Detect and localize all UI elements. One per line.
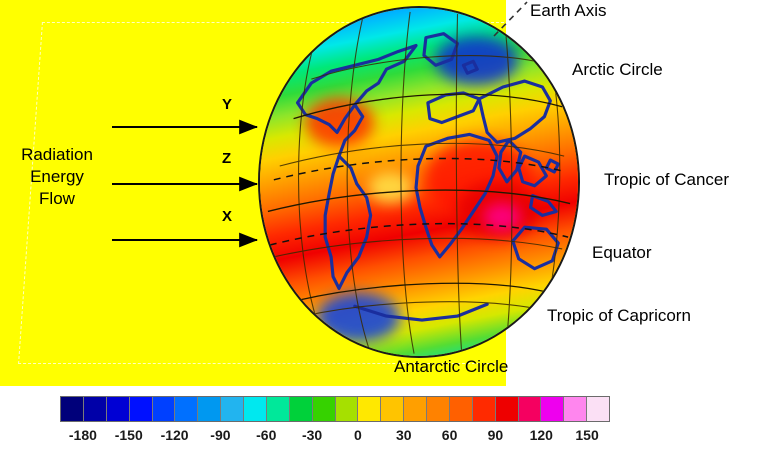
flow-line-1: Radiation [2, 144, 112, 166]
colorbar-tick: -60 [256, 427, 276, 443]
figure-root: Earth Axis Arctic Circle Tropic of Cance… [0, 0, 773, 455]
colorbar-swatch [473, 397, 496, 421]
flow-line-3: Flow [2, 188, 112, 210]
equator-line [268, 190, 570, 211]
colorbar-swatches [60, 396, 610, 422]
colorbar-swatch [541, 397, 564, 421]
label-arctic-circle: Arctic Circle [572, 60, 663, 80]
colorbar-tick: 120 [530, 427, 553, 443]
colorbar-swatch [427, 397, 450, 421]
flow-line-2: Energy [2, 166, 112, 188]
antarctic-circle-line [298, 283, 549, 300]
tropic-of-cancer-line [274, 158, 566, 179]
colorbar-swatch [381, 397, 404, 421]
colorbar-swatch [107, 397, 130, 421]
label-radiation-energy-flow: Radiation Energy Flow [2, 144, 112, 209]
colorbar-swatch [290, 397, 313, 421]
colorbar-swatch [84, 397, 107, 421]
colorbar-swatch [221, 397, 244, 421]
label-antarctic-circle: Antarctic Circle [394, 357, 508, 377]
colorbar-swatch [175, 397, 198, 421]
colorbar-swatch [153, 397, 176, 421]
colorbar-tick: 30 [396, 427, 412, 443]
colorbar-swatch [358, 397, 381, 421]
arctic-circle-line [294, 94, 563, 118]
label-tropic-of-capricorn: Tropic of Capricorn [547, 306, 691, 326]
colorbar-tick: -120 [161, 427, 189, 443]
colorbar: -180-150-120-90-60-300306090120150 [60, 396, 610, 452]
tropic-of-capricorn-line [270, 224, 568, 245]
colorbar-tick: -150 [115, 427, 143, 443]
colorbar-tick: -30 [302, 427, 322, 443]
colorbar-swatch [244, 397, 267, 421]
globe-disc [258, 6, 580, 358]
colorbar-tick: 150 [575, 427, 598, 443]
graticule-overlay [260, 8, 578, 356]
colorbar-swatch [404, 397, 427, 421]
label-earth-axis: Earth Axis [530, 1, 607, 21]
earth-globe [258, 6, 580, 358]
marker-label-y: Y [222, 96, 232, 113]
marker-label-z: Z [222, 150, 231, 167]
label-tropic-of-cancer: Tropic of Cancer [604, 170, 729, 190]
colorbar-tick: -180 [69, 427, 97, 443]
colorbar-swatch [496, 397, 519, 421]
label-equator: Equator [592, 243, 652, 263]
colorbar-swatch [519, 397, 542, 421]
colorbar-swatch [336, 397, 359, 421]
colorbar-swatch [267, 397, 290, 421]
colorbar-swatch [587, 397, 609, 421]
colorbar-tick-labels: -180-150-120-90-60-300306090120150 [60, 427, 610, 451]
colorbar-tick: 60 [442, 427, 458, 443]
colorbar-swatch [198, 397, 221, 421]
colorbar-swatch [564, 397, 587, 421]
colorbar-swatch [130, 397, 153, 421]
colorbar-swatch [313, 397, 336, 421]
colorbar-tick: 0 [354, 427, 362, 443]
colorbar-tick: -90 [210, 427, 230, 443]
marker-label-x: X [222, 208, 232, 225]
colorbar-swatch [61, 397, 84, 421]
colorbar-swatch [450, 397, 473, 421]
colorbar-tick: 90 [488, 427, 504, 443]
